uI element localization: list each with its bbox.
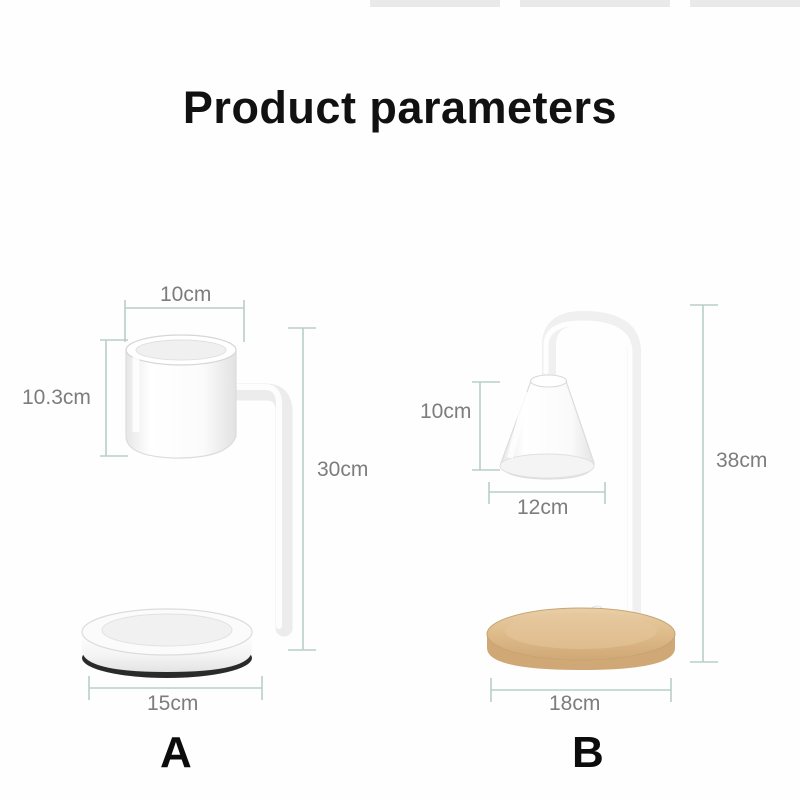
lamp-b-shade	[500, 375, 594, 479]
product-diagram	[0, 0, 800, 800]
dim-label-a-shade-width: 10cm	[160, 283, 211, 307]
dim-a-shade-height	[100, 340, 128, 456]
dim-b-total-height	[690, 305, 718, 662]
dim-label-b-shade-width: 12cm	[517, 496, 568, 520]
lamp-a-arm	[231, 387, 284, 628]
dim-label-b-base-diameter: 18cm	[549, 692, 600, 716]
page-background: Product parameters	[0, 0, 800, 800]
dim-label-b-shade-height: 10cm	[420, 400, 471, 424]
lamp-a-shade	[126, 335, 236, 458]
dim-b-shade-height	[472, 382, 500, 470]
lamp-a-base	[82, 609, 252, 678]
dim-label-a-total-height: 30cm	[317, 458, 368, 482]
dim-label-a-shade-height: 10.3cm	[22, 386, 91, 410]
dim-label-a-base-diameter: 15cm	[147, 692, 198, 716]
lamp-b-base	[487, 608, 675, 670]
product-letter-b: B	[572, 728, 604, 778]
dim-label-b-total-height: 38cm	[716, 449, 767, 473]
product-letter-a: A	[160, 728, 192, 778]
